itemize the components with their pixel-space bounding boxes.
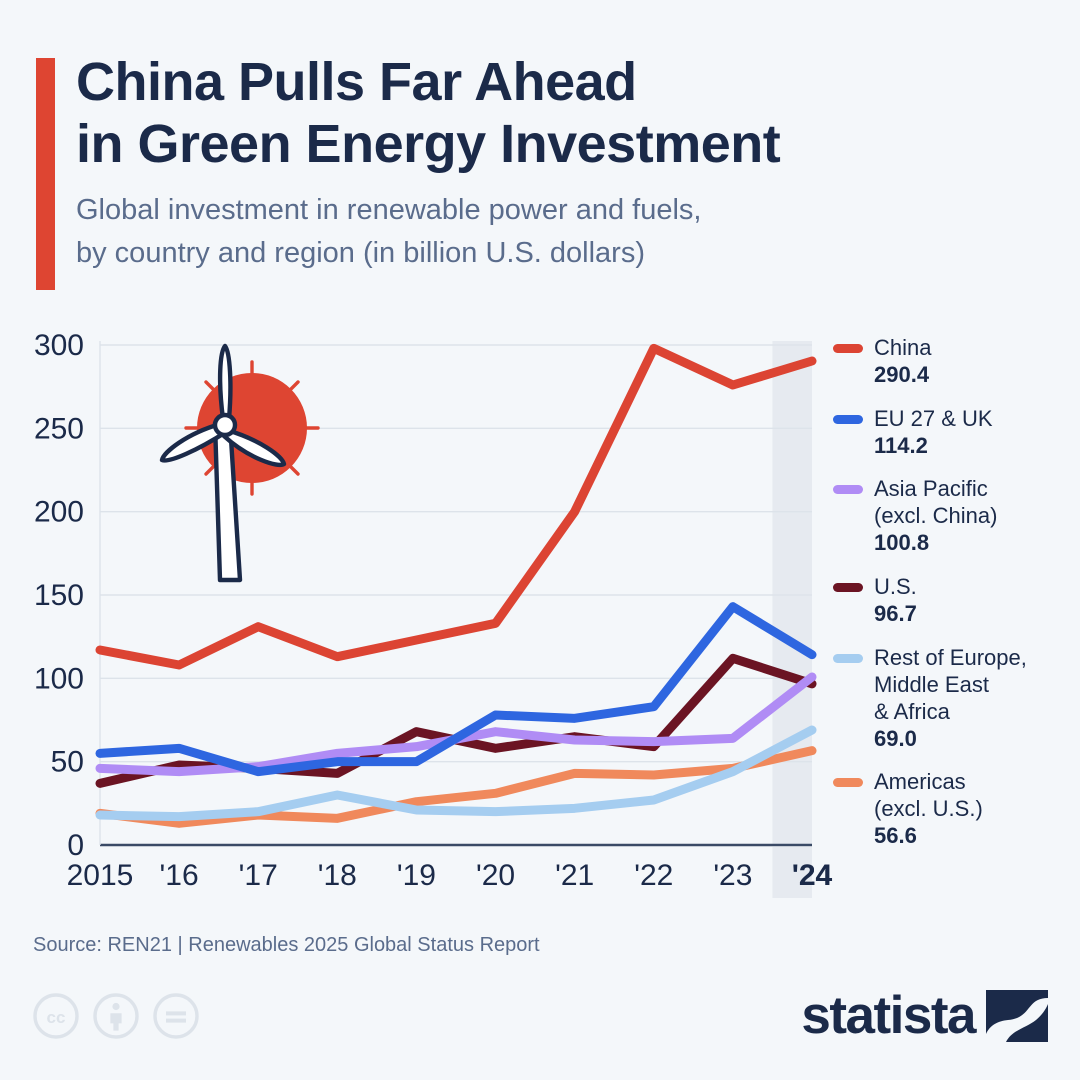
svg-text:cc: cc [47, 1008, 66, 1027]
legend-series-value: 69.0 [874, 725, 1073, 754]
series-line [100, 348, 812, 665]
x-axis-tick-label: '20 [476, 859, 515, 892]
accent-bar [36, 58, 55, 290]
legend-text: Asia Pacific (excl. China)100.8 [874, 475, 1073, 558]
legend-color-swatch [833, 485, 863, 494]
legend-color-swatch [833, 415, 863, 424]
y-axis-tick-label: 300 [34, 329, 84, 362]
y-axis-tick-label: 0 [67, 829, 84, 862]
statista-logo: statista [801, 988, 1048, 1042]
legend-text: Americas (excl. U.S.)56.6 [874, 768, 1073, 851]
legend-color-swatch [833, 778, 863, 787]
page-title: China Pulls Far Ahead in Green Energy In… [76, 52, 1036, 175]
creative-commons-icons: cc [32, 992, 200, 1040]
legend-text: China290.4 [874, 334, 1073, 390]
legend-color-swatch [833, 344, 863, 353]
statista-wordmark: statista [801, 989, 975, 1042]
title-block: China Pulls Far Ahead in Green Energy In… [76, 52, 1036, 275]
x-axis-tick-label-highlighted: '24 [792, 859, 833, 892]
cc-nd-equals-icon [152, 992, 200, 1040]
legend-series-value: 290.4 [874, 361, 1073, 390]
x-axis-tick-label: '22 [634, 859, 673, 892]
legend-item[interactable]: Asia Pacific (excl. China)100.8 [833, 475, 1073, 558]
chart-legend: China290.4EU 27 & UK114.2Asia Pacific (e… [833, 334, 1073, 866]
y-axis-tick-label: 50 [51, 746, 84, 779]
legend-series-name: EU 27 & UK [874, 405, 1073, 432]
series-line [100, 658, 812, 783]
page-subtitle: Global investment in renewable power and… [76, 189, 1036, 275]
legend-series-name: China [874, 334, 1073, 361]
legend-item[interactable]: EU 27 & UK114.2 [833, 405, 1073, 461]
y-axis-tick-label: 150 [34, 579, 84, 612]
y-axis-tick-label: 200 [34, 496, 84, 529]
legend-color-swatch [833, 583, 863, 592]
legend-series-value: 114.2 [874, 432, 1073, 461]
turbine-blade [220, 346, 230, 419]
x-axis-tick-label: '23 [713, 859, 752, 892]
x-axis-tick-label: '21 [555, 859, 594, 892]
x-axis-tick-label: 2015 [67, 859, 134, 892]
legend-text: EU 27 & UK114.2 [874, 405, 1073, 461]
legend-series-value: 100.8 [874, 529, 1073, 558]
legend-item[interactable]: Americas (excl. U.S.)56.6 [833, 768, 1073, 851]
legend-text: Rest of Europe, Middle East & Africa69.0 [874, 644, 1073, 754]
y-axis-tick-label: 100 [34, 662, 84, 695]
legend-series-name: U.S. [874, 573, 1073, 600]
wind-turbine-illustration [162, 346, 318, 580]
legend-series-name: Rest of Europe, Middle East & Africa [874, 644, 1073, 725]
legend-text: U.S.96.7 [874, 573, 1073, 629]
legend-item[interactable]: U.S.96.7 [833, 573, 1073, 629]
cc-by-person-icon [92, 992, 140, 1040]
highlight-band-2024 [772, 341, 812, 845]
header: China Pulls Far Ahead in Green Energy In… [0, 0, 1080, 300]
legend-series-name: Asia Pacific (excl. China) [874, 475, 1073, 529]
legend-series-value: 56.6 [874, 822, 1073, 851]
legend-color-swatch [833, 654, 863, 663]
source-note: Source: REN21 | Renewables 2025 Global S… [33, 934, 540, 957]
x-axis-tick-label: '18 [318, 859, 357, 892]
y-axis-tick-label: 250 [34, 412, 84, 445]
cc-icon: cc [32, 992, 80, 1040]
legend-item[interactable]: China290.4 [833, 334, 1073, 390]
x-axis-tick-label: '17 [239, 859, 278, 892]
x-axis-tick-label: '16 [160, 859, 199, 892]
legend-series-name: Americas (excl. U.S.) [874, 768, 1073, 822]
x-axis-tick-label: '19 [397, 859, 436, 892]
legend-series-value: 96.7 [874, 600, 1073, 629]
legend-item[interactable]: Rest of Europe, Middle East & Africa69.0 [833, 644, 1073, 754]
turbine-hub [215, 415, 235, 435]
statista-logo-mark [986, 990, 1048, 1042]
